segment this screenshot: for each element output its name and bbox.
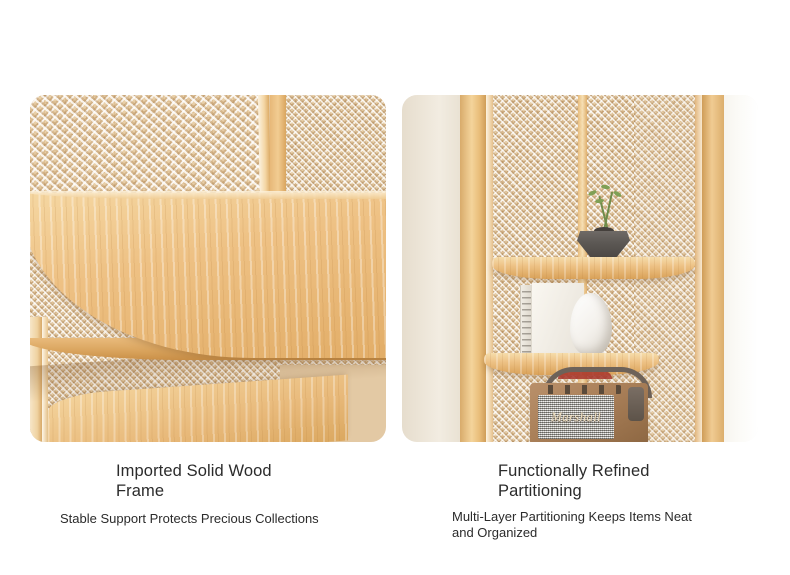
feature-title-line-1: Functionally Refined [498, 461, 748, 481]
speaker-handle-strap [628, 387, 644, 421]
shelf-frame-post-left-inner [486, 95, 493, 442]
feature-title-line-1: Imported Solid Wood [116, 461, 366, 481]
feature-subtitle-functional-partitioning: Multi-Layer Partitioning Keeps Items Nea… [452, 509, 714, 541]
feature-subtitle-solid-wood-frame: Stable Support Protects Precious Collect… [60, 511, 380, 527]
shelf-board-1 [492, 257, 695, 279]
feature-title-line-2: Frame [116, 481, 366, 501]
shelf-frame-post-right [702, 95, 724, 442]
feature-title-line-2: Partitioning [498, 481, 748, 501]
feature-image-solid-wood-frame[interactable] [30, 95, 386, 442]
feature-image-functional-partitioning[interactable]: Marshall TROPICAL PLANTS [402, 95, 758, 442]
speaker-brand-logo: Marshall [548, 410, 604, 424]
book-spine-text [522, 291, 531, 357]
feature-title-functional-partitioning: Functionally Refined Partitioning [498, 461, 748, 501]
speaker-control-knobs [542, 385, 622, 394]
photo-corner-shelf-unit-styled: Marshall TROPICAL PLANTS [402, 95, 758, 442]
shelf-frame-post-left [460, 95, 486, 442]
feature-board: Imported Solid Wood Frame Stable Support… [0, 0, 790, 575]
room-wall-left-edge [402, 95, 464, 442]
feature-title-solid-wood-frame: Imported Solid Wood Frame [116, 461, 366, 501]
photo-solid-wood-corner-shelf-closeup [30, 95, 386, 442]
